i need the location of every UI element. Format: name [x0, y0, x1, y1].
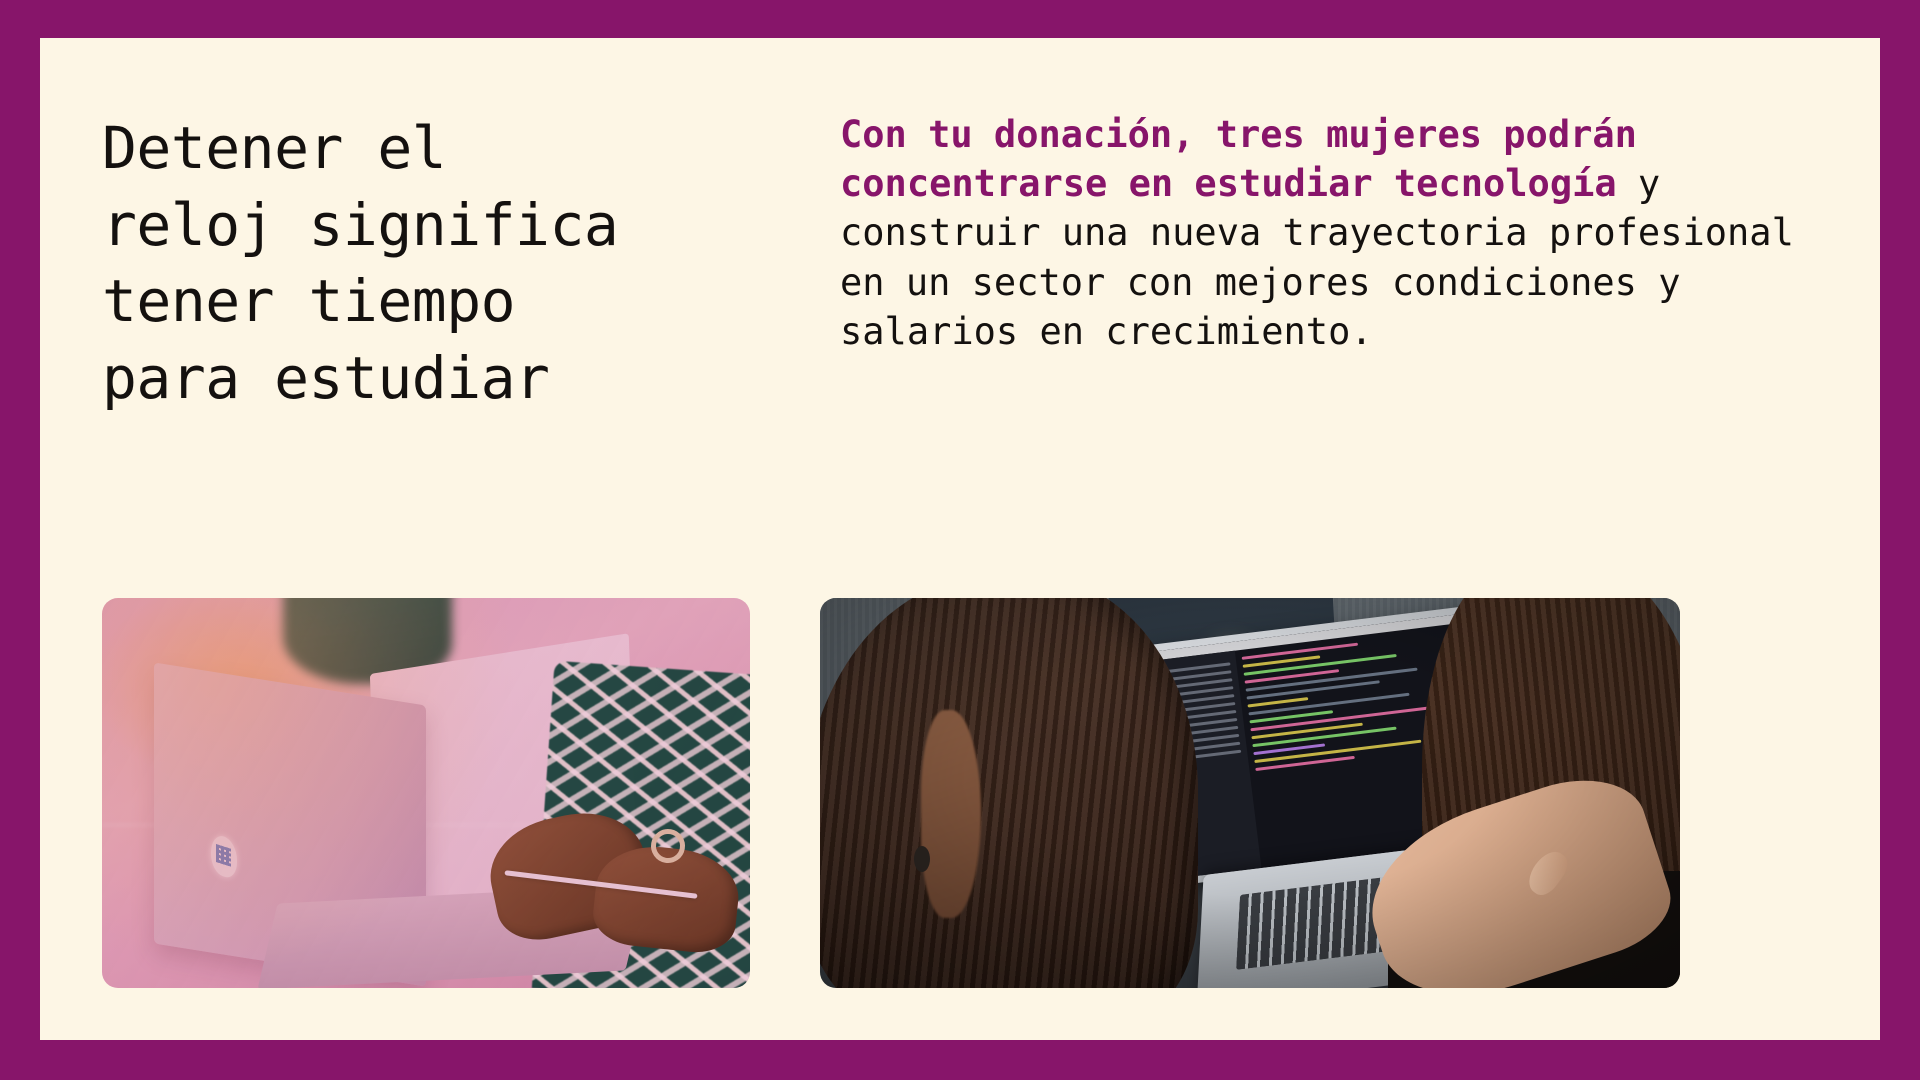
- body-paragraph: Con tu donación, tres mujeres podrán con…: [840, 110, 1820, 356]
- pink-tint-overlay: [102, 598, 750, 988]
- left-column: Detener el reloj significa tener tiempo …: [40, 38, 820, 1040]
- body-lead-text: Con tu donación, tres mujeres podrán con…: [840, 113, 1637, 205]
- left-photo-scene: [102, 598, 750, 988]
- slide-frame: Detener el reloj significa tener tiempo …: [0, 0, 1920, 1080]
- vignette-overlay: [820, 598, 1680, 988]
- right-photo: [820, 598, 1680, 988]
- right-column: Con tu donación, tres mujeres podrán con…: [820, 38, 1880, 1040]
- left-photo: [102, 598, 750, 988]
- content-card: Detener el reloj significa tener tiempo …: [40, 38, 1880, 1040]
- right-photo-scene: [820, 598, 1680, 988]
- page-title: Detener el reloj significa tener tiempo …: [102, 110, 820, 416]
